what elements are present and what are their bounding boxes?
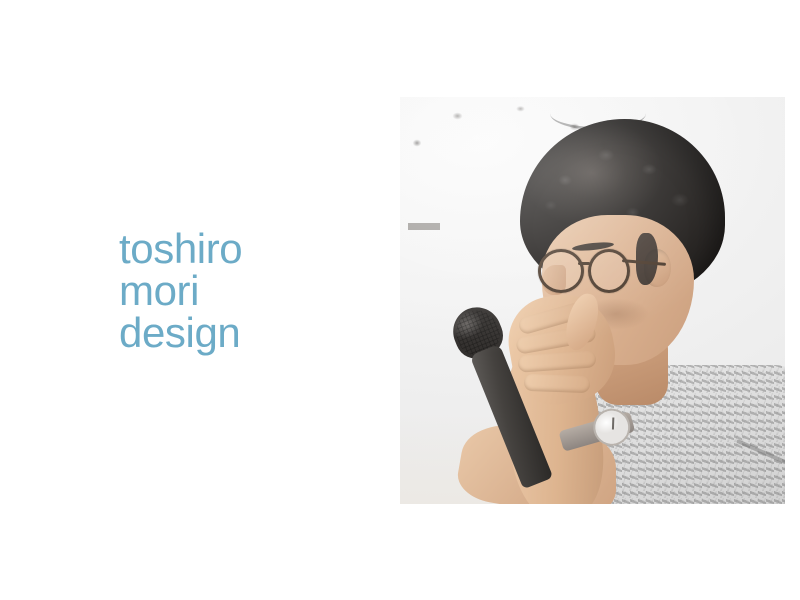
logo-block[interactable]: toshiro mori design <box>119 228 379 354</box>
glasses <box>536 249 656 289</box>
logo-line-mori: mori <box>119 270 379 312</box>
glasses-bridge <box>578 262 590 265</box>
logo-line-design: design <box>119 312 379 354</box>
microphone-ring <box>408 223 440 230</box>
watch-hand <box>612 417 614 429</box>
glasses-lens-right <box>588 249 630 293</box>
portrait-photo <box>400 97 785 504</box>
finger <box>524 374 591 393</box>
glasses-lens-left <box>538 249 584 293</box>
logo-line-toshiro: toshiro <box>119 228 379 270</box>
page-root: toshiro mori design <box>0 0 800 600</box>
